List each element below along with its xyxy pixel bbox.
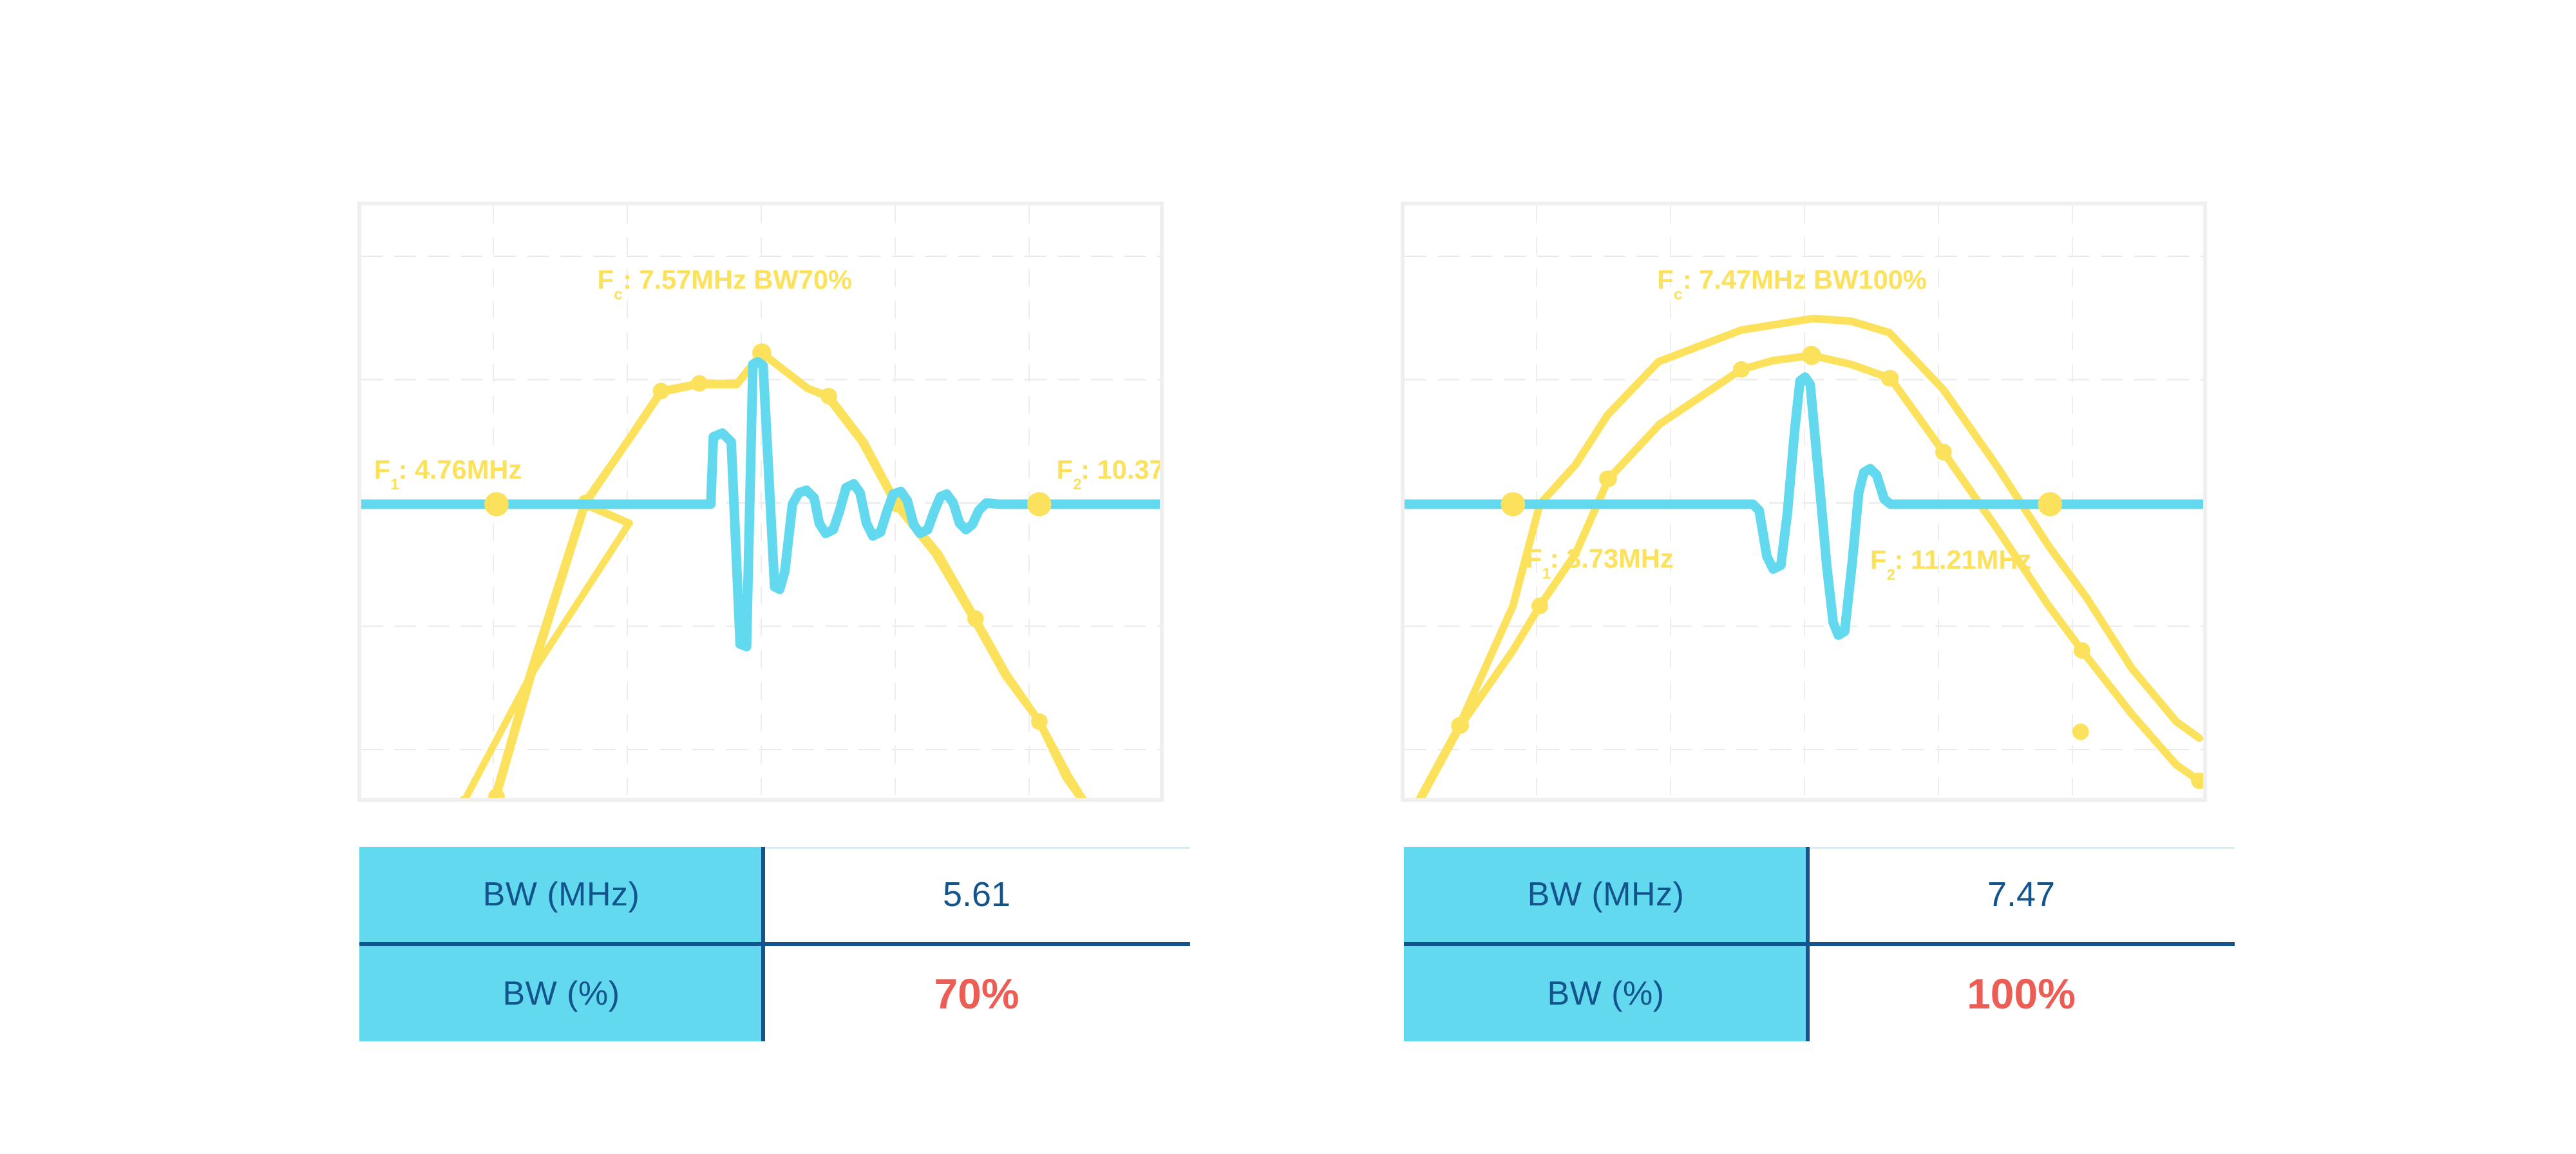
annot-fc-prefix: F xyxy=(597,264,613,294)
annot-fc-text: : 7.47MHz BW100% xyxy=(1683,264,1927,294)
table-value-bw-mhz: 5.61 xyxy=(763,847,1190,942)
spectrum-curve-yellow xyxy=(465,504,629,798)
marker-f2 xyxy=(1027,492,1052,516)
table-row: BW (MHz) 7.47 xyxy=(1404,847,2235,942)
table-row: BW (MHz) 5.61 xyxy=(359,847,1190,942)
table-row: BW (%) 70% xyxy=(359,946,1190,1041)
table-value-bw-mhz: 7.47 xyxy=(1808,847,2235,942)
chart-left-spectrum: F c : 7.57MHz BW70% F 1 : 4.76MHz F 2 : … xyxy=(357,202,1164,802)
annot-f2-text: : 11.21MHz xyxy=(1895,545,2032,575)
annotation-center-frequency: F c : 7.47MHz BW100% xyxy=(1657,264,1927,303)
table-header-bw-percent: BW (%) xyxy=(1404,946,1808,1041)
annotation-f2: F 2 : 10.37MHz xyxy=(1057,455,1160,494)
spectrum-main-line xyxy=(475,504,629,798)
table-top-rule xyxy=(1808,847,2235,849)
annot-f1-prefix: F xyxy=(1526,544,1542,574)
bw-table-left: BW (MHz) 5.61 BW (%) 70% xyxy=(359,847,1190,1041)
annot-fc-text: : 7.57MHz BW70% xyxy=(623,264,852,294)
table-header-bw-percent: BW (%) xyxy=(359,946,763,1041)
annot-f1-text: : 3.73MHz xyxy=(1550,544,1674,574)
table-top-rule xyxy=(763,847,1190,849)
table-row: BW (%) 100% xyxy=(1404,946,2235,1041)
annot-f2-prefix: F xyxy=(1870,545,1886,575)
annot-f2-prefix: F xyxy=(1057,455,1073,485)
table-column-rule xyxy=(1806,847,1810,1041)
annot-f1-text: : 4.76MHz xyxy=(398,455,522,485)
annot-f2-text: : 10.37MHz xyxy=(1081,455,1160,485)
table-column-rule xyxy=(761,847,765,1041)
annot-fc-subscript: c xyxy=(1674,287,1682,303)
marker-f2 xyxy=(2038,492,2062,516)
table-header-bw-mhz: BW (MHz) xyxy=(359,847,763,942)
annotation-f1: F 1 : 4.76MHz xyxy=(374,455,522,494)
chart-right-spectrum: F c : 7.47MHz BW100% F 1 : 3.73MHz F 2 :… xyxy=(1401,202,2207,802)
annotation-f2: F 2 : 11.21MHz xyxy=(1870,545,2031,584)
chart-right-svg: F c : 7.47MHz BW100% F 1 : 3.73MHz F 2 :… xyxy=(1405,205,2203,798)
marker-f1 xyxy=(1501,492,1526,516)
table-middle-rule xyxy=(359,942,1190,946)
chart-left-svg: F c : 7.57MHz BW70% F 1 : 4.76MHz F 2 : … xyxy=(361,205,1160,798)
annotation-center-frequency: F c : 7.57MHz BW70% xyxy=(597,264,851,303)
table-middle-rule xyxy=(1404,942,2235,946)
annot-f1-prefix: F xyxy=(374,455,390,485)
table-value-bw-percent: 100% xyxy=(1808,946,2235,1041)
marker-f1 xyxy=(484,492,509,516)
annot-fc-prefix: F xyxy=(1657,264,1673,294)
table-header-bw-mhz: BW (MHz) xyxy=(1404,847,1808,942)
annotation-f1: F 1 : 3.73MHz xyxy=(1526,544,1673,583)
table-value-bw-percent: 70% xyxy=(763,946,1190,1041)
annot-fc-subscript: c xyxy=(614,287,622,303)
bw-table-right: BW (MHz) 7.47 BW (%) 100% xyxy=(1404,847,2235,1041)
